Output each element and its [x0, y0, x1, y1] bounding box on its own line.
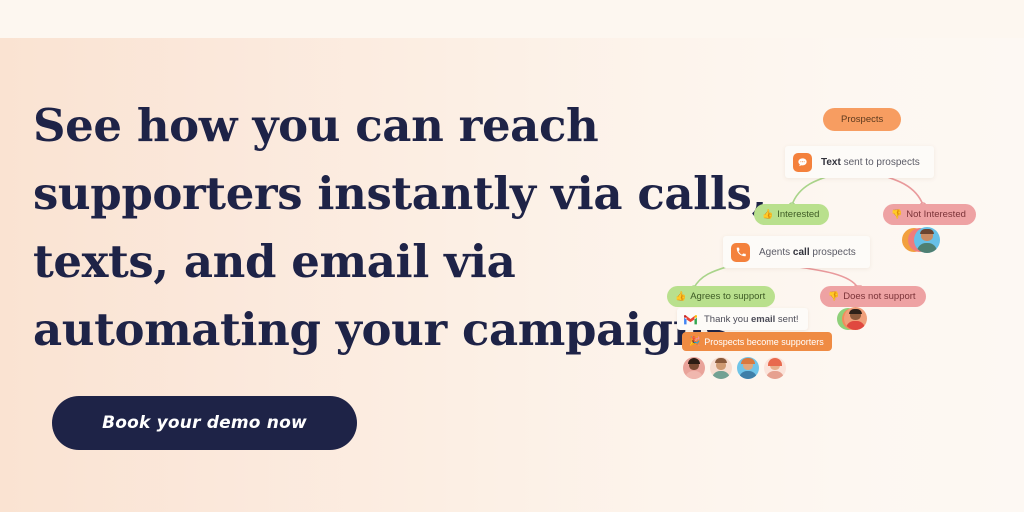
node-prospects-label: Prospects	[841, 114, 883, 125]
gmail-icon	[683, 314, 698, 325]
hero-banner: See how you can reach supporters instant…	[0, 0, 1024, 512]
supporter-avatars	[683, 357, 791, 379]
avatar-group-does-not-support	[837, 307, 871, 333]
node-prospects-become-supporters[interactable]: 🎉 Prospects become supporters	[682, 332, 832, 351]
step-thank-you-email-label: Thank you email sent!	[704, 314, 799, 325]
book-demo-button[interactable]: Book your demo now	[52, 396, 357, 450]
celebration-icon: 🎉	[689, 337, 700, 346]
thumbs-up-icon: 👍	[675, 292, 686, 301]
step-agents-call-label: Agents call prospects	[759, 247, 856, 258]
step-agents-call[interactable]: Agents call prospects	[723, 236, 870, 268]
step-thank-you-email[interactable]: Thank you email sent!	[677, 308, 808, 330]
avatar	[683, 357, 705, 379]
node-interested-label: Interested	[777, 209, 819, 220]
phone-icon	[731, 243, 750, 262]
avatar	[764, 357, 786, 379]
avatar-group-not-interested	[902, 226, 940, 254]
headline-line-1: See how you can reach	[33, 92, 693, 160]
thumbs-up-icon: 👍	[762, 210, 773, 219]
node-not-interested-label: Not Interested	[906, 209, 966, 220]
page-title: See how you can reach supporters instant…	[33, 92, 693, 364]
node-does-not-support-label: Does not support	[843, 291, 915, 302]
top-band	[0, 0, 1024, 38]
step-text-sent[interactable]: Text sent to prospects	[785, 146, 934, 178]
node-not-interested[interactable]: 👎 Not Interested	[883, 204, 976, 225]
node-agrees-to-support-label: Agrees to support	[690, 291, 765, 302]
node-outcome-label: Prospects become supporters	[704, 337, 824, 347]
thumbs-down-icon: 👎	[891, 210, 902, 219]
chat-bubble-icon	[793, 153, 812, 172]
node-does-not-support[interactable]: 👎 Does not support	[820, 286, 926, 307]
workflow-diagram: + + Prospects Text sent to prospects 👍 I…	[668, 108, 1008, 393]
headline-line-4: automating your campaigns	[33, 296, 693, 364]
node-prospects[interactable]: Prospects	[823, 108, 901, 131]
step-text-sent-label: Text sent to prospects	[821, 157, 920, 168]
node-agrees-to-support[interactable]: 👍 Agrees to support	[667, 286, 775, 307]
avatar	[737, 357, 759, 379]
node-interested[interactable]: 👍 Interested	[754, 204, 829, 225]
thumbs-down-icon: 👎	[828, 292, 839, 301]
avatar	[710, 357, 732, 379]
headline-line-3: texts, and email via	[33, 228, 693, 296]
headline-line-2: supporters instantly via calls,	[33, 160, 693, 228]
